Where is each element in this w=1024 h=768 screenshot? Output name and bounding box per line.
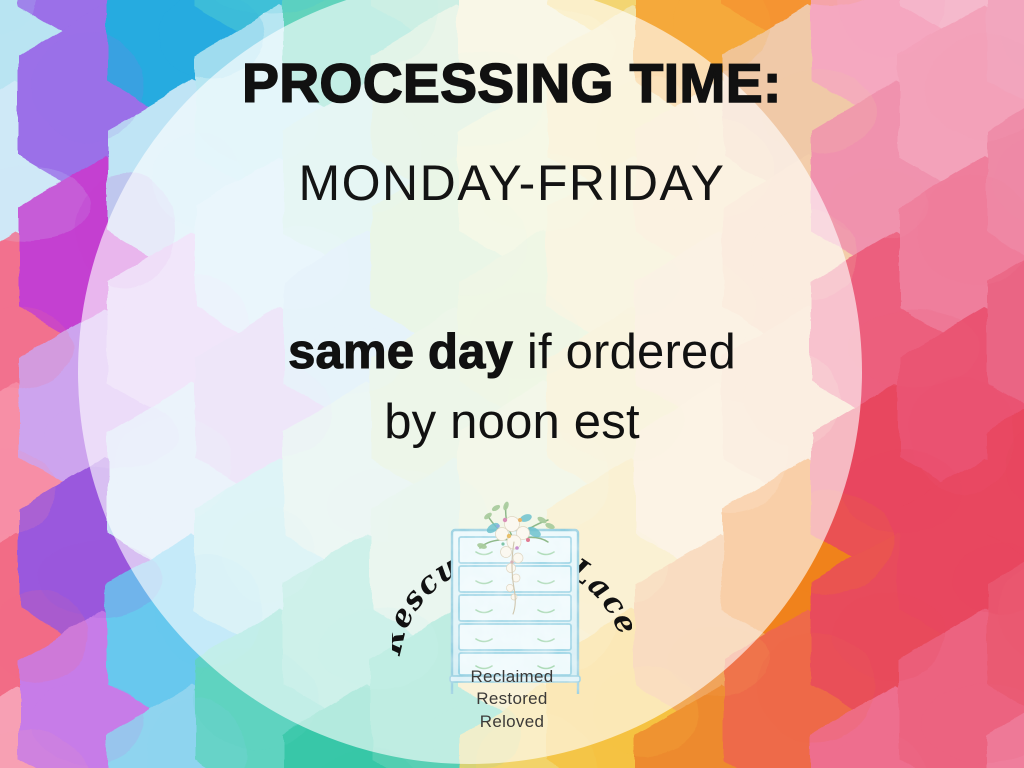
text-layer: PROCESSING TIME: MONDAY-FRIDAY same day … bbox=[0, 0, 1024, 768]
tagline-line-2: Restored bbox=[392, 688, 632, 710]
tagline-line-1: Reclaimed bbox=[392, 666, 632, 688]
promo-message: same day if ordered by noon est bbox=[0, 318, 1024, 457]
banner-canvas: PROCESSING TIME: MONDAY-FRIDAY same day … bbox=[0, 0, 1024, 768]
subtitle: MONDAY-FRIDAY bbox=[0, 158, 1024, 208]
promo-line2: by noon est bbox=[0, 388, 1024, 458]
promo-emphasis: same day bbox=[288, 325, 513, 379]
promo-line1-rest: if ordered bbox=[513, 325, 736, 379]
tagline-line-3: Reloved bbox=[392, 711, 632, 733]
page-title: PROCESSING TIME: bbox=[0, 56, 1024, 111]
logo-tagline: Reclaimed Restored Reloved bbox=[392, 666, 632, 733]
